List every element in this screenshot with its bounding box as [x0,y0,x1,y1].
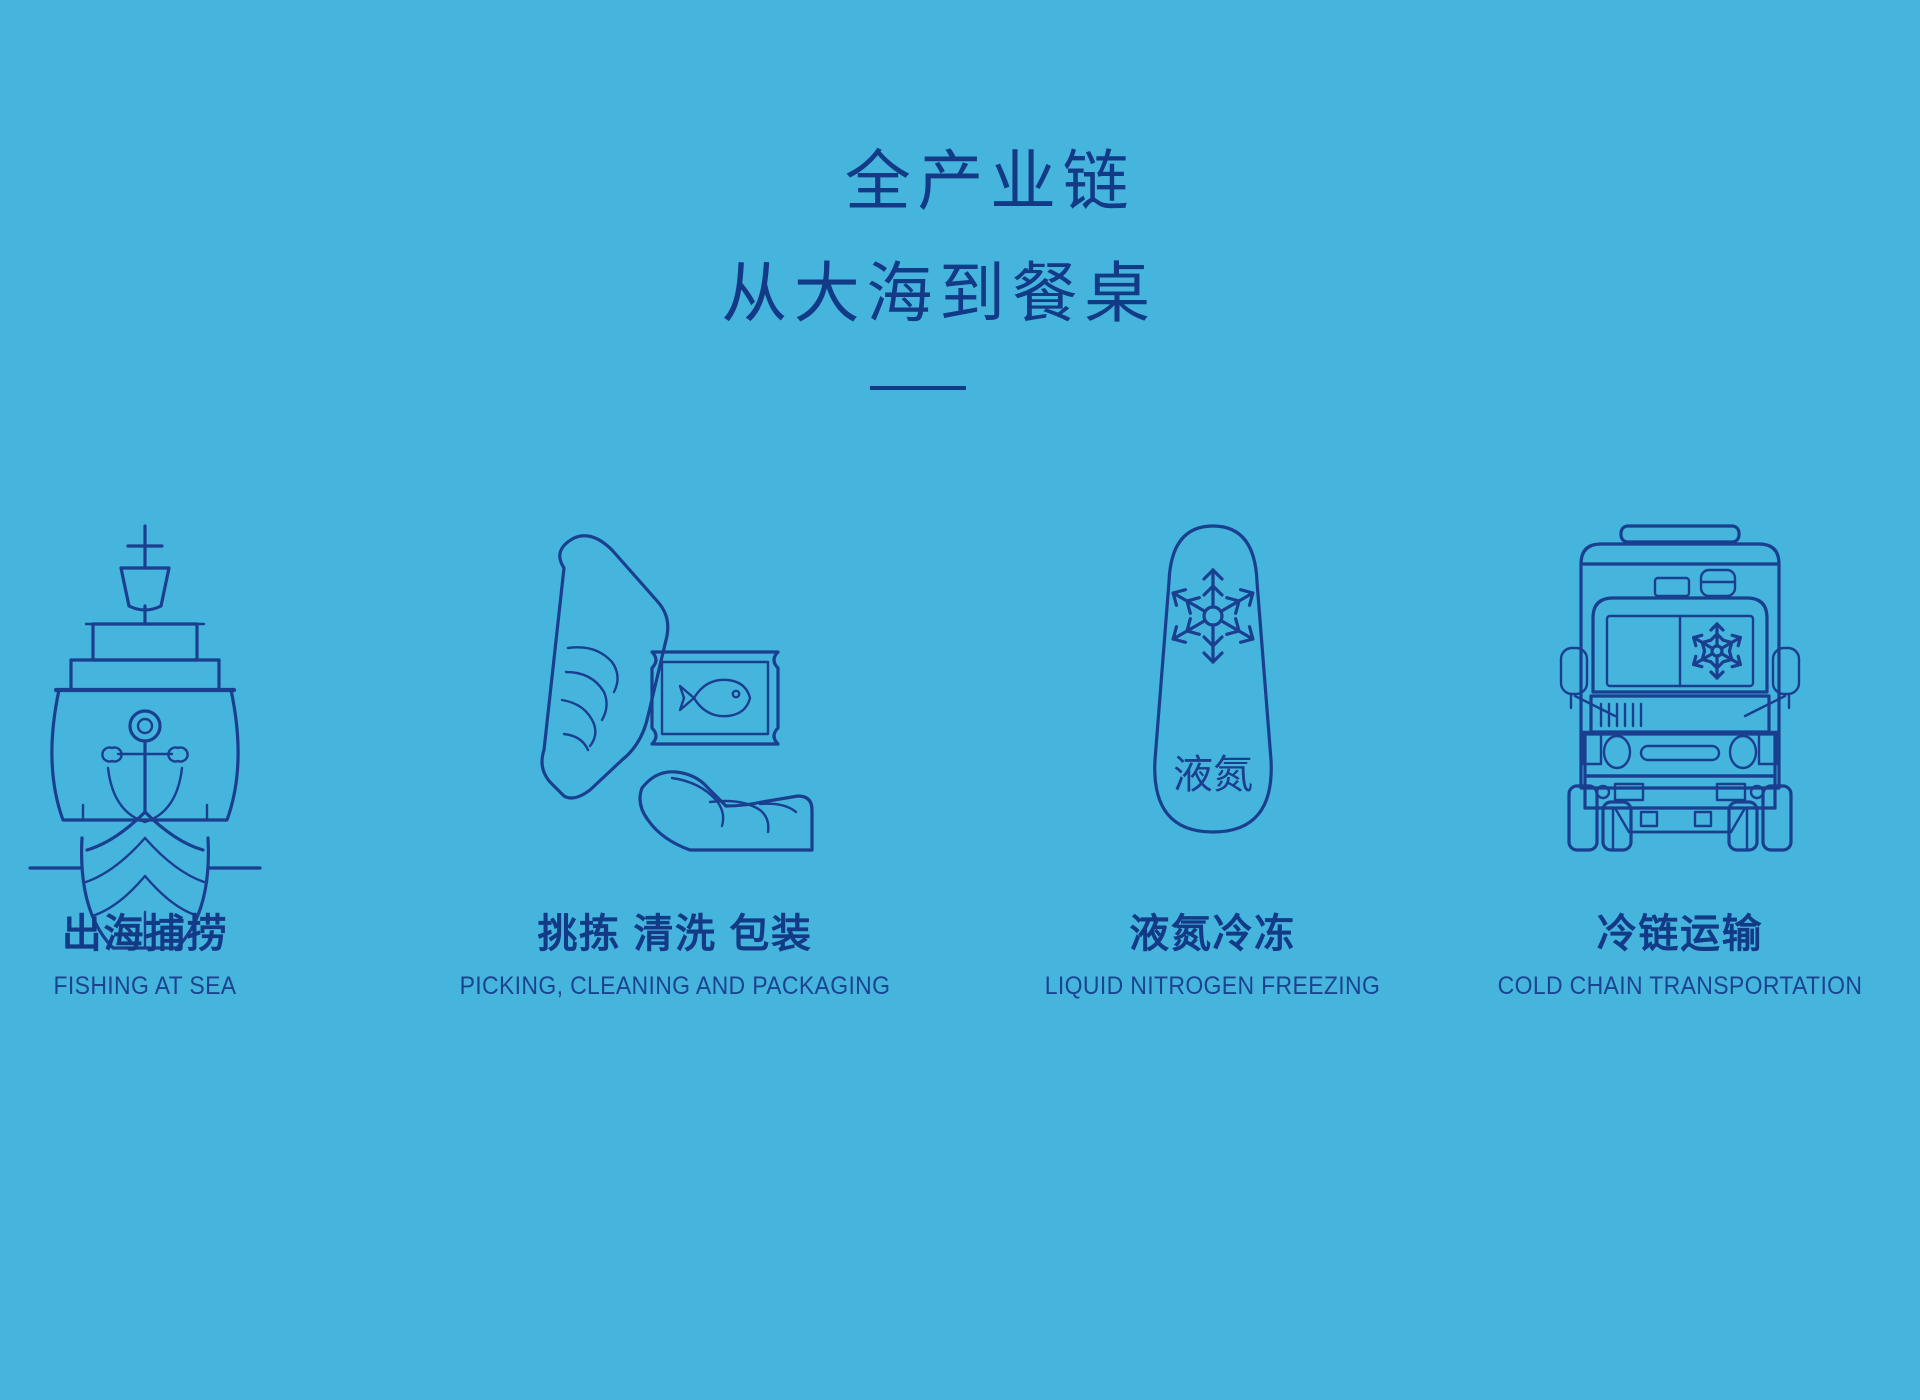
liquid-nitrogen-tank-icon: 液氮 [1000,520,1425,850]
step-labels: 冷链运输 COLD CHAIN TRANSPORTATION [1440,912,1920,1001]
process-steps: 出海捕捞 FISHING AT SEA [0,520,1920,1170]
page-canvas: 全产业链 从大海到餐桌 [0,0,1920,1400]
page-title-primary: 全产业链 [60,150,1920,216]
step-item-cold-chain-transportation[interactable]: 冷链运输 COLD CHAIN TRANSPORTATION [1440,520,1920,1001]
step-item-picking-cleaning-packaging[interactable]: 挑拣 清洗 包装 PICKING, CLEANING AND PACKAGING [370,520,980,1001]
step-label-en: LIQUID NITROGEN FREEZING [1017,972,1408,1001]
step-label-cn: 挑拣 清洗 包装 [370,912,980,956]
step-labels: 出海捕捞 FISHING AT SEA [0,912,290,1001]
step-label-en: PICKING, CLEANING AND PACKAGING [394,972,955,1001]
page-header: 全产业链 从大海到餐桌 [0,150,1920,390]
step-label-cn: 冷链运输 [1440,912,1920,956]
tank-caption: 液氮 [1173,753,1253,797]
step-labels: 液氮冷冻 LIQUID NITROGEN FREEZING [1000,912,1425,1001]
step-label-en: FISHING AT SEA [12,972,279,1001]
refrigerated-truck-icon [1440,520,1920,850]
step-item-liquid-nitrogen-freezing[interactable]: 液氮 液氮冷冻 LIQUID NITROGEN FREEZING [1000,520,1425,1001]
hands-fish-package-icon [370,520,980,850]
title-divider [870,386,966,390]
fishing-boat-icon [0,520,290,850]
step-item-fishing-at-sea[interactable]: 出海捕捞 FISHING AT SEA [0,520,290,1001]
step-labels: 挑拣 清洗 包装 PICKING, CLEANING AND PACKAGING [370,912,980,1001]
step-label-cn: 液氮冷冻 [1000,912,1425,956]
page-title-secondary: 从大海到餐桌 [0,262,1920,328]
step-label-en: COLD CHAIN TRANSPORTATION [1459,972,1901,1001]
step-label-cn: 出海捕捞 [0,912,290,956]
